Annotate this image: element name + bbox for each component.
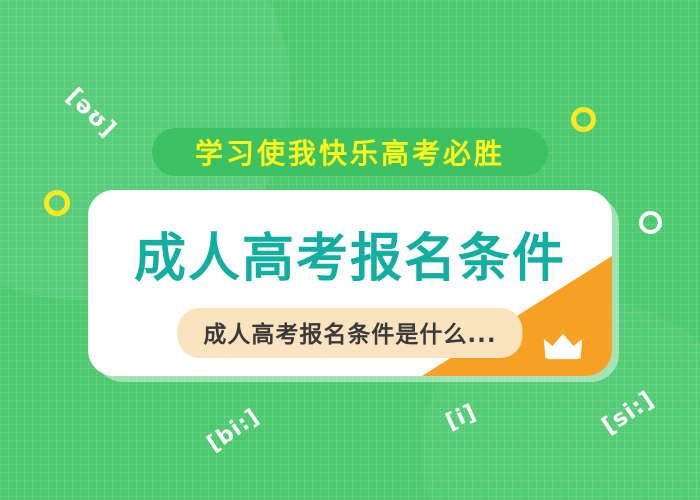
decor-ring-yellow-right [571, 107, 596, 132]
decor-phonetic-4: [si:] [598, 386, 660, 439]
poster-canvas: [əʊ] [bi:] [i] [si:] 学习使我快乐高考必胜 成人高考报名条件… [0, 0, 700, 500]
decor-phonetic-1: [əʊ] [61, 83, 121, 142]
subtitle-text: 成人高考报名条件是什么... [203, 322, 496, 348]
main-card: 成人高考报名条件 成人高考报名条件是什么... [88, 190, 612, 376]
decor-phonetic-2: [bi:] [203, 404, 264, 457]
decor-ring-yellow-left [44, 190, 70, 216]
top-banner-text: 学习使我快乐高考必胜 [195, 132, 505, 172]
top-banner: 学习使我快乐高考必胜 [152, 128, 548, 176]
page-title: 成人高考报名条件 [88, 216, 612, 291]
subtitle-pill: 成人高考报名条件是什么... [177, 308, 522, 358]
decor-phonetic-3: [i] [442, 400, 480, 435]
crown-icon [542, 330, 584, 362]
decor-ring-white-right [639, 211, 662, 234]
